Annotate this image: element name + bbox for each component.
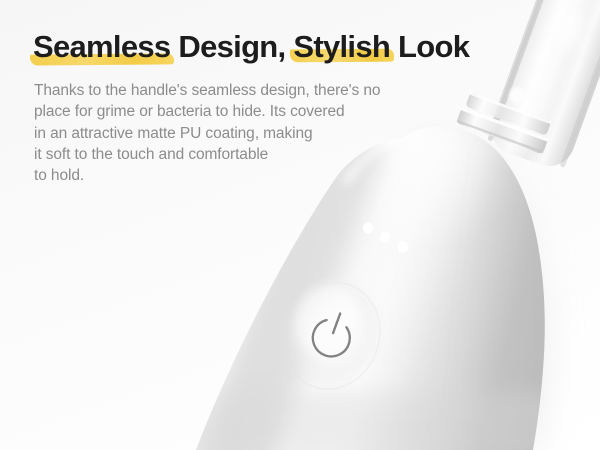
headline-part-4: Look [390,29,469,64]
page-title: Seamless Design, Stylish Look [33,28,469,66]
headline-highlight-stylish: Stylish [293,28,390,66]
body-paragraph: Thanks to the handle's seamless design, … [34,80,494,186]
copy-block: Seamless Design, Stylish Look Thanks to … [0,0,600,450]
headline-part-3: Stylish [293,29,390,64]
headline-part-2: Design, [170,29,293,64]
headline-part-1: Seamless [33,29,170,64]
promo-banner: Seamless Design, Stylish Look Thanks to … [0,0,600,450]
headline-highlight-seamless: Seamless [33,28,170,66]
